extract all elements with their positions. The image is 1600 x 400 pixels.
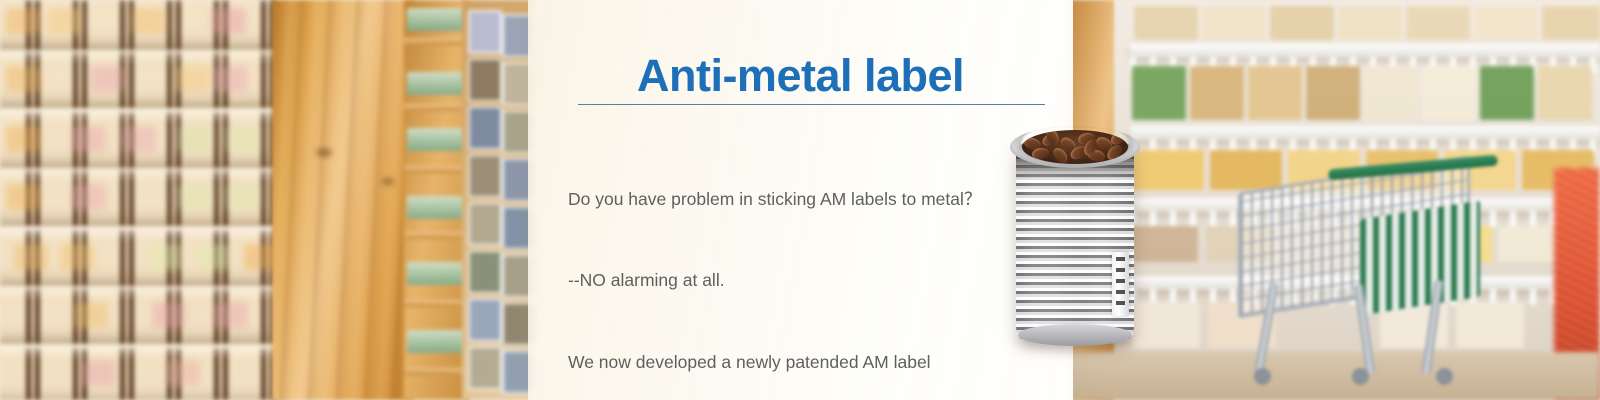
description-text: Do you have problem in sticking AM label… <box>568 131 1038 400</box>
rack-ledge <box>404 104 468 111</box>
wood-knot <box>382 178 394 185</box>
store-shelf <box>1130 44 1600 58</box>
can-beans-fill <box>1022 130 1128 164</box>
postcard <box>468 202 502 246</box>
jar-contents-tint <box>226 126 260 152</box>
product-box <box>1270 6 1334 40</box>
rack-goods <box>407 330 465 353</box>
description-line: We now developed a newly patended AM lab… <box>568 349 1038 376</box>
store-shelf <box>1130 126 1600 140</box>
jar-contents-tint <box>214 66 248 92</box>
product-box <box>1480 66 1534 120</box>
rack-ledge <box>404 166 468 173</box>
postcard <box>468 154 502 198</box>
product-box <box>1248 66 1302 120</box>
product-box <box>1132 66 1186 120</box>
jar-contents-tint <box>14 244 48 270</box>
wooden-pillar <box>272 0 414 400</box>
jar-contents-tint <box>90 66 124 92</box>
title-divider <box>578 104 1045 105</box>
description-line: --NO alarming at all. <box>568 267 1038 294</box>
cart-wheel <box>1436 368 1453 385</box>
shelf-goods-row <box>1132 62 1600 124</box>
can-bottom-rim <box>1018 324 1132 346</box>
product-box <box>1306 66 1360 120</box>
product-box <box>1364 66 1418 120</box>
rack-ledge <box>404 232 468 239</box>
page-title: Anti-metal label <box>528 53 1073 98</box>
rack-goods <box>407 262 465 285</box>
rack-goods <box>407 128 465 151</box>
product-box <box>1422 66 1476 120</box>
postcard <box>468 58 502 102</box>
jar-contents-tint <box>48 8 82 34</box>
product-box <box>1474 6 1538 40</box>
jar-shelf-row <box>0 348 288 400</box>
am-security-label-icon <box>1112 252 1129 316</box>
postcard <box>468 250 502 294</box>
jar-contents-tint <box>178 126 212 152</box>
product-box <box>1542 6 1600 40</box>
jar-contents-tint <box>214 302 248 328</box>
rack-ledge <box>404 368 468 375</box>
jar-contents-tint <box>60 244 94 270</box>
postcard <box>468 106 502 150</box>
jar-contents-tint <box>148 244 182 270</box>
magazine-rack <box>404 0 470 400</box>
product-box <box>1190 66 1244 120</box>
postcard <box>468 10 502 54</box>
cart-divider-bars <box>1360 200 1480 315</box>
jar-contents-tint <box>72 184 106 210</box>
content-panel: Anti-metal label Do you have problem in … <box>528 0 1073 400</box>
jar-contents-tint <box>212 8 246 34</box>
product-box <box>1132 150 1204 190</box>
jar-contents-tint <box>6 126 40 152</box>
rack-ledge <box>404 38 468 45</box>
product-box <box>1132 302 1200 348</box>
cart-wheel <box>1254 368 1271 385</box>
jar-contents-tint <box>6 66 40 92</box>
jar-contents-tint <box>132 8 166 34</box>
jar-contents-tint <box>226 184 260 210</box>
jar-contents-tint <box>6 184 40 210</box>
product-box <box>1498 226 1558 262</box>
cart-wheel <box>1352 368 1369 385</box>
product-box <box>1134 6 1198 40</box>
jar-contents-tint <box>74 302 108 328</box>
anti-metal-label-banner: Anti-metal label Do you have problem in … <box>0 0 1600 400</box>
left-store-shelves-photo <box>0 0 290 400</box>
product-box <box>1202 6 1266 40</box>
jar-contents-tint <box>122 126 156 152</box>
rack-ledge <box>404 300 468 307</box>
postcard <box>468 298 502 342</box>
product-box <box>1338 6 1402 40</box>
jar-contents-tint <box>178 184 212 210</box>
product-box <box>1406 6 1470 40</box>
description-line: Do you have problem in sticking AM label… <box>568 186 1038 213</box>
metal-can-product-image <box>1008 116 1142 340</box>
rack-goods <box>407 196 465 219</box>
shopping-cart <box>1232 162 1490 388</box>
product-box <box>1538 66 1592 120</box>
bean <box>1031 147 1049 160</box>
jar-contents-tint <box>72 126 106 152</box>
rack-goods <box>407 72 465 95</box>
rack-goods <box>407 8 465 31</box>
jar-contents-tint <box>196 244 230 270</box>
postcard-display <box>462 0 534 400</box>
jar-contents-tint <box>152 302 186 328</box>
jar-contents-tint <box>6 8 40 34</box>
jar-contents-tint <box>176 66 210 92</box>
postcard <box>468 346 502 390</box>
jar-contents-tint <box>166 360 200 386</box>
wood-knot <box>316 148 332 157</box>
jar-contents-tint <box>82 360 116 386</box>
